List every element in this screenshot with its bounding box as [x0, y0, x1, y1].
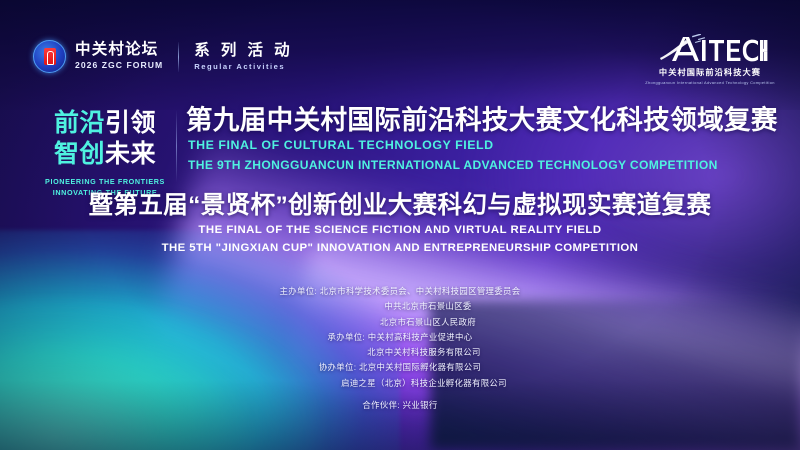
primary-title-en-line-1: THE FINAL OF CULTURAL TECHNOLOGY FIELD [188, 136, 800, 155]
aitech-logo-en: Zhongguancun International Advanced Tech… [644, 80, 776, 85]
zgc-forum-logo: 中关村论坛 2026 ZGC FORUM 系 列 活 动 Regular Act… [33, 40, 293, 73]
credit-line-organizer-1: 主办单位: 北京市科学技术委员会、中关村科技园区管理委员会 [0, 284, 800, 299]
zgc-forum-logo-cn: 中关村论坛 [75, 42, 163, 59]
aitech-logo: 中关村国际前沿科技大赛 Zhongguancun International A… [644, 34, 776, 85]
secondary-title-en-line-1: THE FINAL OF THE SCIENCE FICTION AND VIR… [0, 221, 800, 239]
credit-line-coorganizer-2: 启迪之星（北京）科技企业孵化器有限公司 [0, 376, 800, 391]
series-label-cn: 系 列 活 动 [194, 42, 293, 59]
credit-line-coorganizer-1: 协办单位: 北京中关村国际孵化器有限公司 [0, 360, 800, 375]
secondary-title-cn: 暨第五届“景贤杯”创新创业大赛科幻与虚拟现实赛道复赛 [0, 191, 800, 222]
conference-banner: 中关村论坛 2026 ZGC FORUM 系 列 活 动 Regular Act… [0, 0, 800, 450]
credit-line-organizer-3: 北京市石景山区人民政府 [0, 315, 800, 330]
credit-line-host-1: 承办单位: 中关村高科技产业促进中心 [0, 330, 800, 345]
banner-header: 中关村论坛 2026 ZGC FORUM 系 列 活 动 Regular Act… [0, 0, 800, 96]
credit-line-partner: 合作伙伴: 兴业银行 [0, 398, 800, 413]
series-label-en: Regular Activities [194, 62, 293, 71]
zgc-forum-emblem-icon [33, 40, 66, 73]
aitech-logo-cn: 中关村国际前沿科技大赛 [644, 66, 776, 78]
aitech-emblem-icon [644, 34, 776, 64]
credit-line-host-2: 北京中关村科技服务有限公司 [0, 345, 800, 360]
primary-title-en-line-2: THE 9TH ZHONGGUANCUN INTERNATIONAL ADVAN… [188, 156, 800, 175]
credits-block: 主办单位: 北京市科学技术委员会、中关村科技园区管理委员会 中共北京市石景山区委… [0, 284, 800, 413]
header-divider [178, 42, 179, 72]
secondary-title-en-line-2: THE 5TH "JINGXIAN CUP" INNOVATION AND EN… [0, 239, 800, 257]
credit-line-organizer-2: 中共北京市石景山区委 [0, 299, 800, 314]
title-block: 第九届中关村国际前沿科技大赛文化科技领域复赛 THE FINAL OF CULT… [0, 104, 800, 258]
primary-title-cn: 第九届中关村国际前沿科技大赛文化科技领域复赛 [186, 104, 800, 136]
zgc-forum-logo-en: 2026 ZGC FORUM [75, 60, 163, 70]
